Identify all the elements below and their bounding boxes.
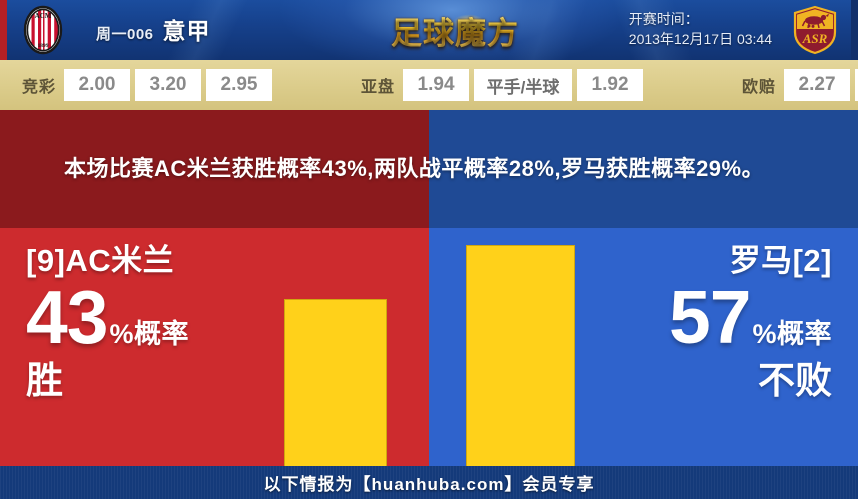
odds-group-asian-handicap: 亚盘 1.94 平手/半球 1.92 — [353, 60, 648, 110]
header-left-red-edge — [0, 0, 7, 60]
footer-bar: 以下情报为【huanhuba.com】会员专享 — [0, 466, 858, 499]
match-title: 周一006 意甲 — [96, 12, 211, 48]
odds-cell-draw[interactable]: 3.20 — [135, 69, 201, 101]
odds-group-european: 欧赔 2.27 3.28 3.06 — [734, 60, 858, 110]
brand-logo-text: 足球魔方 — [391, 8, 519, 53]
svg-text:ASR: ASR — [802, 31, 828, 46]
league-name: 意甲 — [163, 12, 211, 46]
summary-text-wrap: 本场比赛AC米兰获胜概率43%,两队战平概率28%,罗马获胜概率29%。 — [0, 110, 858, 228]
brand-logo: 足球魔方 — [360, 6, 550, 54]
home-probability-bar — [284, 299, 387, 466]
away-probability-row: 57 %概率 — [669, 280, 832, 355]
odds-cell-away[interactable]: 2.95 — [206, 69, 272, 101]
kickoff-info: 开赛时间： 2013年12月17日 03:44 — [629, 9, 772, 49]
home-team-stats: [9]AC米兰 43 %概率 胜 — [26, 242, 189, 403]
round-number: 周一006 — [96, 23, 154, 44]
header-bar: ACM 1899 ASR 周一006 意甲 足球魔方 — [0, 0, 858, 60]
away-probability-bar — [466, 245, 575, 466]
home-outcome-label: 胜 — [26, 359, 189, 403]
odds-cell-handicap[interactable]: 平手/半球 — [474, 69, 572, 101]
odds-cell-home[interactable]: 2.27 — [784, 69, 850, 101]
kickoff-label: 开赛时间： — [629, 9, 772, 29]
odds-cell-home[interactable]: 1.94 — [403, 69, 469, 101]
summary-band: 本场比赛AC米兰获胜概率43%,两队战平概率28%,罗马获胜概率29%。 — [0, 110, 858, 228]
home-probability-unit: %概率 — [109, 321, 189, 348]
away-outcome-label: 不败 — [669, 359, 832, 403]
footer-text: 以下情报为【huanhuba.com】会员专享 — [264, 470, 595, 495]
probability-chart: [9]AC米兰 43 %概率 胜 罗马[2] 57 %概率 不败 — [0, 228, 858, 466]
odds-group-jingcai: 竞彩 2.00 3.20 2.95 — [14, 60, 277, 110]
header-right-blue-edge — [851, 0, 858, 60]
odds-cell-home[interactable]: 2.00 — [64, 69, 130, 101]
svg-text:ACM: ACM — [35, 12, 52, 20]
odds-group-label: 竞彩 — [14, 73, 64, 97]
odds-group-label: 亚盘 — [353, 73, 403, 97]
ac-milan-crest-icon: ACM 1899 — [18, 5, 68, 55]
odds-group-label: 欧赔 — [734, 73, 784, 97]
summary-text: 本场比赛AC米兰获胜概率43%,两队战平概率28%,罗马获胜概率29%。 — [0, 152, 828, 186]
kickoff-time: 2013年12月17日 03:44 — [629, 29, 772, 49]
odds-bar: 竞彩 2.00 3.20 2.95 亚盘 1.94 平手/半球 1.92 欧赔 … — [0, 60, 858, 110]
odds-cell-away[interactable]: 1.92 — [577, 69, 643, 101]
away-probability-value: 57 — [669, 280, 750, 355]
as-roma-crest-icon: ASR — [790, 5, 840, 55]
svg-text:1899: 1899 — [38, 43, 49, 49]
home-probability-value: 43 — [26, 280, 107, 355]
home-probability-row: 43 %概率 — [26, 280, 189, 355]
away-probability-unit: %概率 — [752, 321, 832, 348]
away-team-stats: 罗马[2] 57 %概率 不败 — [669, 242, 832, 403]
match-prediction-infographic: ACM 1899 ASR 周一006 意甲 足球魔方 — [0, 0, 858, 499]
